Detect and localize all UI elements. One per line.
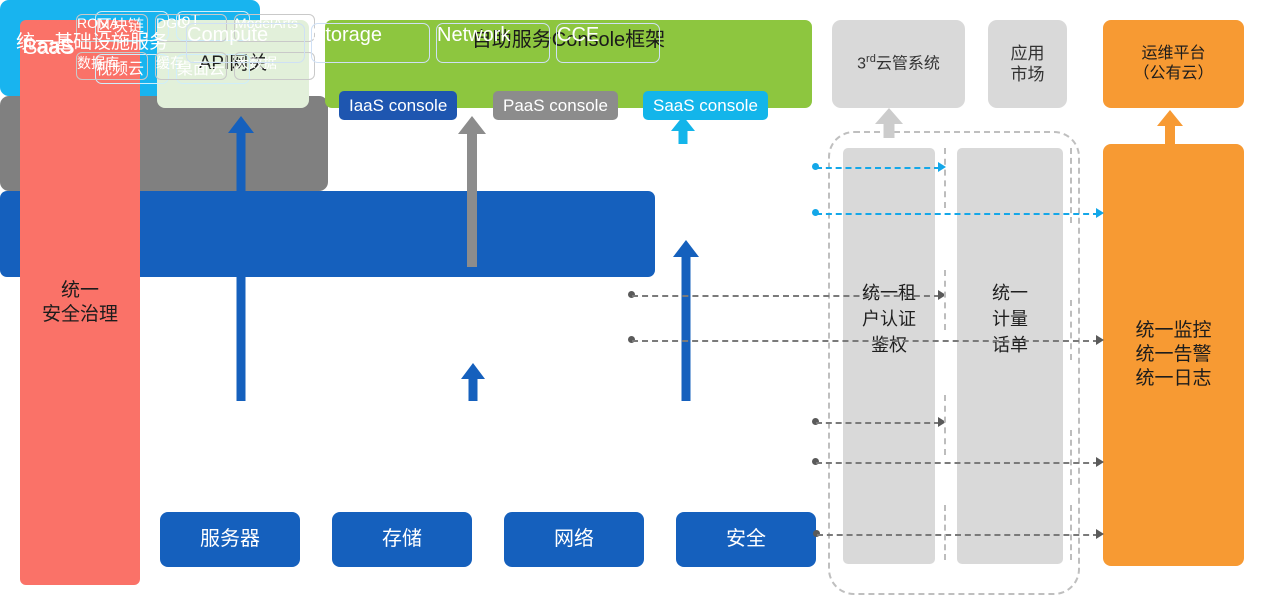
guide-dash-2 <box>944 270 946 330</box>
saas-console-chip[interactable]: SaaS console <box>643 91 768 120</box>
app-market-line2: 市场 <box>1011 64 1045 85</box>
connector-paas-to-ops <box>632 340 1099 342</box>
guide-dash-6 <box>1070 300 1072 360</box>
app-market-box: 应用 市场 <box>988 20 1067 108</box>
paas-chip-database[interactable]: 数据库 <box>76 52 148 80</box>
third-party-cloud-mgmt-box: 3rd云管系统 <box>832 20 965 108</box>
connector-saas-to-ops <box>816 213 1099 215</box>
arrow-infra-to-saas <box>673 240 699 401</box>
infrastructure-label: 统一基础设施服务 <box>16 27 168 54</box>
hardware-box-network: 网络 <box>504 512 644 567</box>
hardware-box-storage: 存储 <box>332 512 472 567</box>
connector-arrow-infra-ops <box>1096 457 1104 467</box>
arrow-paas-to-console <box>458 116 486 267</box>
guide-dash-5 <box>1070 148 1072 223</box>
ops-platform-top-box: 运维平台 （公有云） <box>1103 20 1244 108</box>
infra-chip-storage[interactable]: Storage <box>311 23 430 63</box>
security-governance-line1: 统一 <box>42 279 118 303</box>
arrow-infra-to-paas <box>461 363 485 401</box>
third-party-cloud-label: 3rd云管系统 <box>857 53 940 74</box>
metering-line1: 统一 <box>957 280 1063 306</box>
third-party-cloud-sup: rd <box>866 53 876 65</box>
connector-arrow-hardware-ops <box>1096 529 1104 539</box>
guide-dash-7 <box>1070 430 1072 485</box>
ops-platform-right-line1: 统一监控 <box>1135 319 1211 343</box>
connector-paas-to-tenant-auth <box>632 295 940 297</box>
arrow-saas-to-console <box>671 116 695 144</box>
metering-label: 统一 计量 话单 <box>957 280 1063 358</box>
paas-console-chip[interactable]: PaaS console <box>493 91 618 120</box>
connector-infra-to-tenant-auth <box>816 422 940 424</box>
architecture-diagram: 统一 安全治理 API网关 自助服务Console框架 IaaS console… <box>0 0 1265 605</box>
infra-chip-network[interactable]: Network <box>436 23 550 63</box>
connector-saas-to-tenant-auth <box>816 167 940 169</box>
tenant-auth-label: 统一租 户认证 鉴权 <box>843 280 935 358</box>
hardware-box-server: 服务器 <box>160 512 300 567</box>
arrow-shared-to-ops-platform <box>1157 110 1183 144</box>
guide-dash-1 <box>944 148 946 208</box>
arrow-shared-to-third-cloud <box>875 108 903 138</box>
infra-chip-cce[interactable]: CCE <box>556 23 660 63</box>
tenant-auth-line1: 统一租 <box>843 280 935 306</box>
ops-platform-top-line2: （公有云） <box>1133 64 1213 84</box>
app-market-line1: 应用 <box>1011 43 1045 64</box>
hardware-box-security: 安全 <box>676 512 816 567</box>
security-governance-line2: 安全治理 <box>42 303 118 327</box>
ops-platform-right-panel: 统一监控 统一告警 统一日志 <box>1103 144 1244 566</box>
infra-chip-compute[interactable]: Compute <box>186 23 305 63</box>
ops-platform-right-line2: 统一告警 <box>1135 343 1211 367</box>
guide-dash-4 <box>944 505 946 560</box>
connector-arrow-paas-ops <box>1096 335 1104 345</box>
metering-line2: 计量 <box>957 306 1063 332</box>
connector-arrow-saas-ops <box>1096 208 1104 218</box>
guide-dash-3 <box>944 395 946 455</box>
tenant-auth-line3: 鉴权 <box>843 332 935 358</box>
third-party-cloud-prefix: 3 <box>857 56 866 73</box>
security-governance-panel: 统一 安全治理 <box>20 20 140 585</box>
ops-platform-right-line3: 统一日志 <box>1135 367 1211 391</box>
connector-infra-to-ops <box>816 462 1099 464</box>
ops-platform-top-line1: 运维平台 <box>1133 44 1213 64</box>
arrow-infra-to-api-gateway <box>228 116 254 401</box>
tenant-auth-line2: 户认证 <box>843 306 935 332</box>
guide-dash-8 <box>1070 505 1072 560</box>
iaas-console-chip[interactable]: IaaS console <box>339 91 457 120</box>
third-party-cloud-suffix: 云管系统 <box>876 56 940 73</box>
connector-hardware-to-ops <box>817 534 1099 536</box>
metering-line3: 话单 <box>957 332 1063 358</box>
